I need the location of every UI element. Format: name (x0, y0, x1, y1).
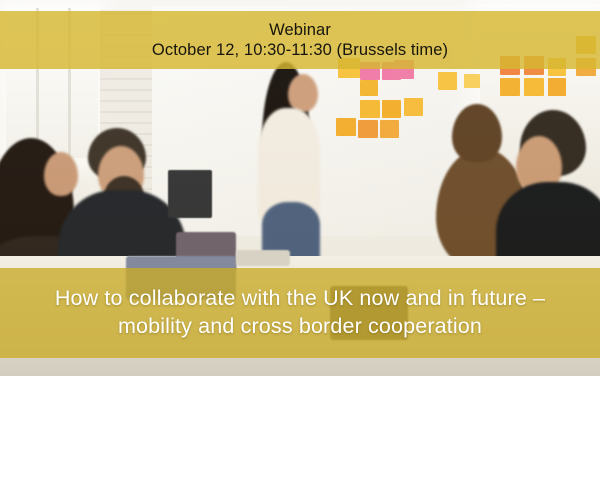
partner-logo-strip: ★ ✦ UKRO UK RESEARCH OFFICE UK Research … (0, 376, 600, 502)
event-datetime-label: October 12, 10:30-11:30 (Brussels time) (152, 40, 448, 60)
person-bun-topknot (452, 104, 502, 162)
person-woman-left-face (44, 152, 78, 196)
webinar-title-banner: How to collaborate with the UK now and i… (0, 268, 600, 358)
webinar-promo-poster: Webinar October 12, 10:30-11:30 (Brussel… (0, 0, 600, 502)
sticky-note (360, 80, 378, 96)
event-banner: Webinar October 12, 10:30-11:30 (Brussel… (0, 11, 600, 69)
sticky-note (464, 74, 480, 88)
monitor (168, 170, 212, 218)
tablet (236, 250, 290, 266)
sticky-note (336, 118, 356, 136)
sticky-note (358, 120, 378, 138)
sticky-note (500, 78, 520, 96)
sticky-note (360, 100, 380, 118)
sticky-note (524, 78, 544, 96)
title-line-1: How to collaborate with the UK now and i… (55, 285, 545, 313)
background-photo: Webinar October 12, 10:30-11:30 (Brussel… (0, 0, 600, 376)
event-type-label: Webinar (269, 20, 331, 40)
sticky-note (548, 78, 566, 96)
title-line-2: mobility and cross border cooperation (118, 313, 482, 341)
person-presenter-face (288, 74, 318, 112)
sticky-note (382, 100, 401, 118)
sticky-note (380, 120, 399, 138)
sticky-note (438, 72, 457, 90)
sticky-note (404, 98, 423, 116)
